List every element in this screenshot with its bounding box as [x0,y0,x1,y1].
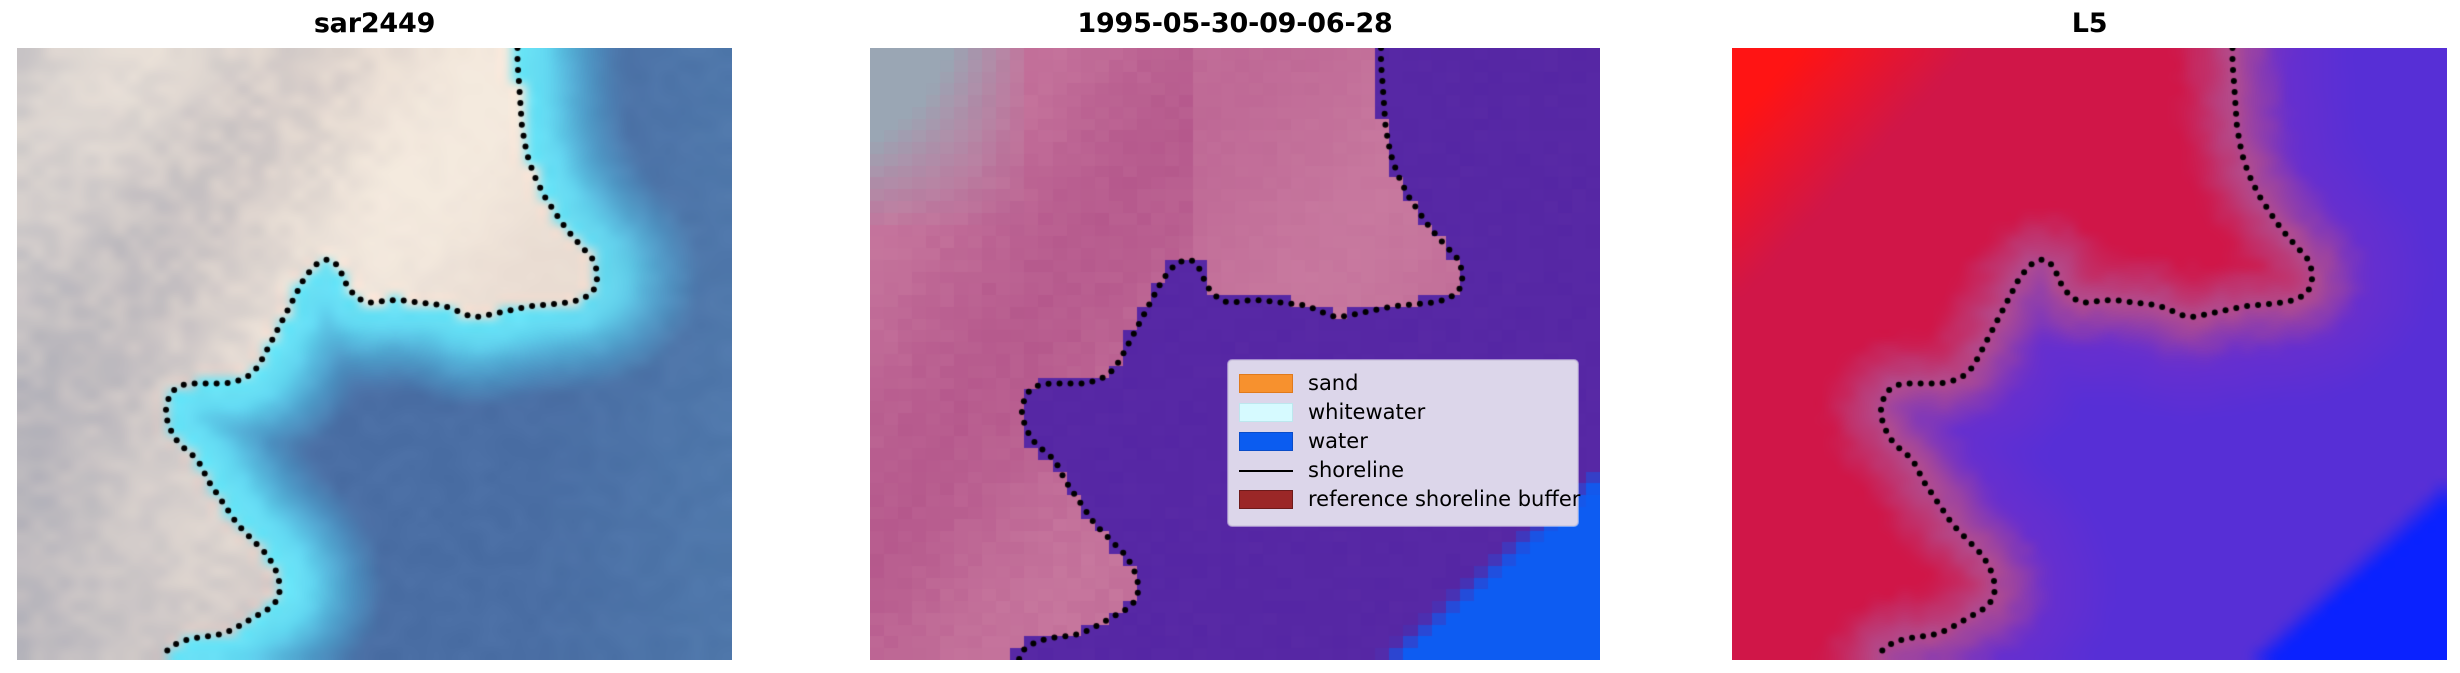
legend-swatch-water [1239,432,1293,451]
panel-sar2449: sar2449 [17,0,732,673]
legend-item-water: water [1239,427,1565,456]
figure-canvas: sar2449 1995-05-30-09-06-28 L5 [0,0,2460,673]
legend-box: sand whitewater water shoreline referenc… [1228,360,1578,526]
legend-item-sand: sand [1239,369,1565,398]
legend-label-water: water [1308,431,1368,452]
legend-label-sand: sand [1308,373,1358,394]
panel-title-sar2449: sar2449 [17,4,732,44]
shoreline-overlay-1 [870,48,1600,660]
legend-item-shoreline: shoreline [1239,456,1565,485]
panel-L5: L5 [1732,0,2447,673]
axes-L5 [1732,48,2447,660]
panel-1995-05-30-09-06-28: 1995-05-30-09-06-28 [870,0,1600,673]
legend-item-whitewater: whitewater [1239,398,1565,427]
legend-swatch-shoreline [1239,470,1293,472]
legend-swatch-whitewater [1239,403,1293,422]
legend-label-reference-shoreline-buffer: reference shoreline buffer [1308,489,1580,510]
shoreline-overlay-0 [17,48,732,660]
legend-label-shoreline: shoreline [1308,460,1404,481]
panel-title-L5: L5 [1732,4,2447,44]
legend-item-reference-shoreline-buffer: reference shoreline buffer [1239,485,1565,514]
panel-title-classification: 1995-05-30-09-06-28 [870,4,1600,44]
shoreline-overlay-2 [1732,48,2447,660]
legend-swatch-sand [1239,374,1293,393]
axes-sar2449 [17,48,732,660]
legend-swatch-reference-shoreline-buffer [1239,490,1293,509]
axes-classification [870,48,1600,660]
legend-label-whitewater: whitewater [1308,402,1425,423]
